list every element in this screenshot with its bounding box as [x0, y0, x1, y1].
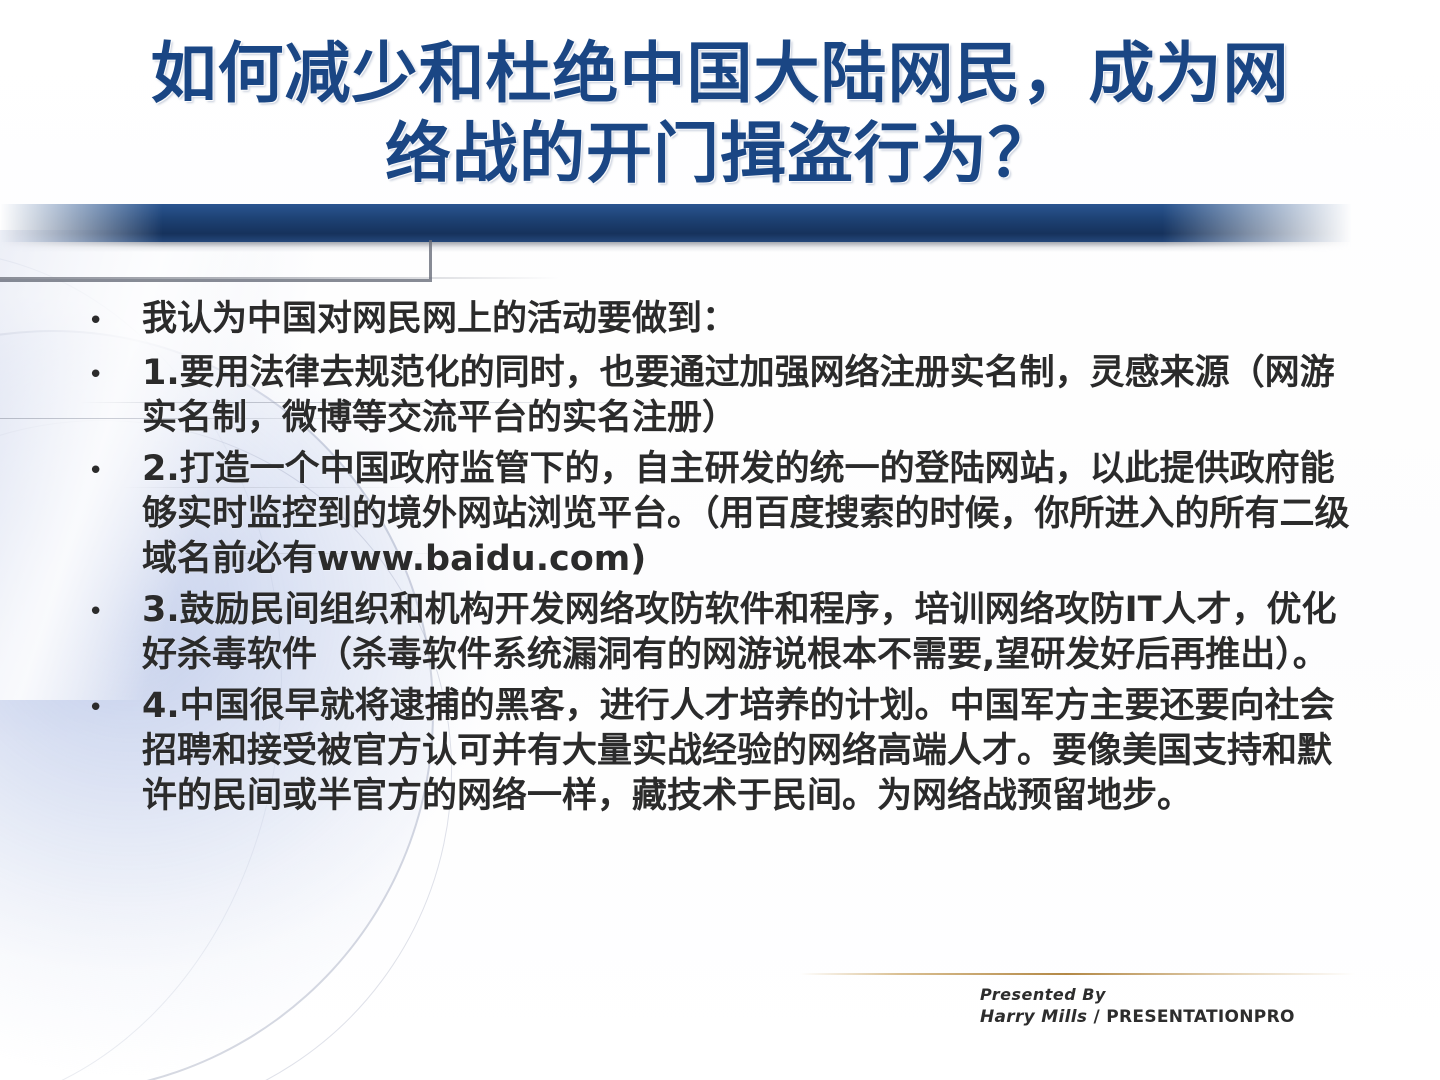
list-item-text: 1.要用法律去规范化的同时，也要通过加强网络注册实名制，灵感来源（网游实名制，微… — [142, 351, 1362, 441]
list-item: • 我认为中国对网民网上的活动要做到： — [72, 297, 1362, 345]
bullet-icon: • — [72, 447, 142, 495]
title-line-1: 如何减少和杜绝中国大陆网民，成为网 — [70, 34, 1370, 114]
credit-author-brand: Harry Mills / PRESENTATIONPRO — [980, 1006, 1295, 1028]
footer-credit: Presented By Harry Mills / PRESENTATIONP… — [980, 984, 1295, 1028]
bullet-icon: • — [72, 588, 142, 636]
list-item: • 1.要用法律去规范化的同时，也要通过加强网络注册实名制，灵感来源（网游实名制… — [72, 351, 1362, 441]
bullet-icon: • — [72, 351, 142, 399]
credit-author: Harry Mills — [980, 1007, 1087, 1027]
slide-title: 如何减少和杜绝中国大陆网民，成为网 络战的开门揖盗行为？ — [70, 34, 1370, 194]
footer-divider — [800, 973, 1355, 975]
credit-separator: / — [1087, 1007, 1106, 1027]
list-item: • 3.鼓励民间组织和机构开发网络攻防软件和程序，培训网络攻防IT人才，优化好杀… — [72, 588, 1362, 678]
body-bullet-list: • 我认为中国对网民网上的活动要做到： • 1.要用法律去规范化的同时，也要通过… — [72, 297, 1362, 825]
credit-brand: PRESENTATIONPRO — [1106, 1007, 1294, 1027]
bullet-icon: • — [72, 297, 142, 345]
list-item-text: 4.中国很早就将逮捕的黑客，进行人才培养的计划。中国军方主要还要向社会招聘和接受… — [142, 684, 1362, 819]
bullet-icon: • — [72, 684, 142, 732]
list-item: • 4.中国很早就将逮捕的黑客，进行人才培养的计划。中国军方主要还要向社会招聘和… — [72, 684, 1362, 819]
list-item-text: 3.鼓励民间组织和机构开发网络攻防软件和程序，培训网络攻防IT人才，优化好杀毒软… — [142, 588, 1362, 678]
title-line-2: 络战的开门揖盗行为？ — [70, 114, 1370, 194]
presentation-slide: 如何减少和杜绝中国大陆网民，成为网 络战的开门揖盗行为？ • 我认为中国对网民网… — [0, 0, 1440, 1080]
title-banner-bracket — [0, 240, 432, 282]
list-item: • 2.打造一个中国政府监管下的，自主研发的统一的登陆网站，以此提供政府能够实时… — [72, 447, 1362, 582]
title-banner-bar — [0, 204, 1352, 242]
list-item-text: 2.打造一个中国政府监管下的，自主研发的统一的登陆网站，以此提供政府能够实时监控… — [142, 447, 1362, 582]
credit-presented-by: Presented By — [980, 984, 1295, 1006]
list-item-text: 我认为中国对网民网上的活动要做到： — [142, 297, 1362, 342]
